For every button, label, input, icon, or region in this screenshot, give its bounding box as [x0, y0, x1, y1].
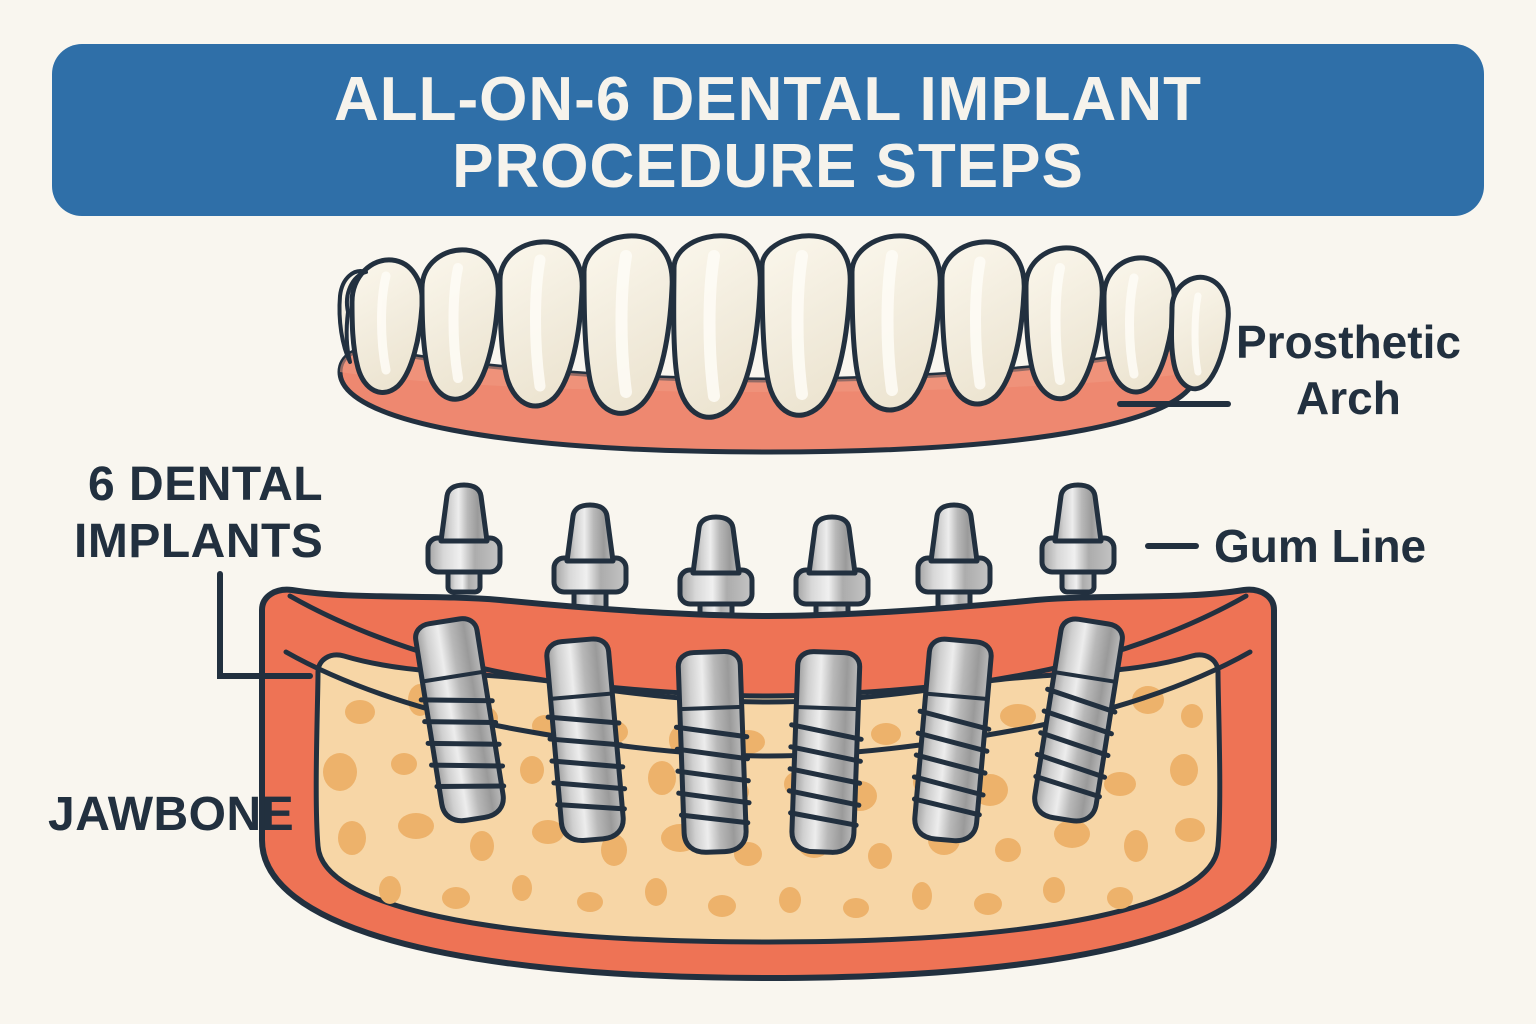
label-dental-implants-line1: 6 DENTAL — [88, 458, 323, 511]
implant-screw — [674, 651, 751, 853]
label-dental-implants-line2: IMPLANTS — [74, 515, 323, 568]
label-prosthetic-arch-line1: Prosthetic — [1236, 316, 1461, 368]
banner-title-line1: ALL-ON-6 DENTAL IMPLANT — [334, 65, 1202, 134]
banner-title-line2: PROCEDURE STEPS — [452, 132, 1084, 201]
implant-screw — [787, 651, 864, 853]
label-gum-line: Gum Line — [1214, 520, 1426, 572]
label-prosthetic-arch-line2: Arch — [1296, 372, 1401, 424]
label-jawbone: JAWBONE — [48, 788, 294, 841]
dental-implant-diagram: ALL-ON-6 DENTAL IMPLANT PROCEDURE STEPS — [0, 0, 1536, 1024]
prosthetic-arch — [298, 236, 1238, 452]
title-banner: ALL-ON-6 DENTAL IMPLANT PROCEDURE STEPS — [52, 44, 1484, 216]
infographic-canvas: ALL-ON-6 DENTAL IMPLANT PROCEDURE STEPS — [0, 0, 1536, 1024]
